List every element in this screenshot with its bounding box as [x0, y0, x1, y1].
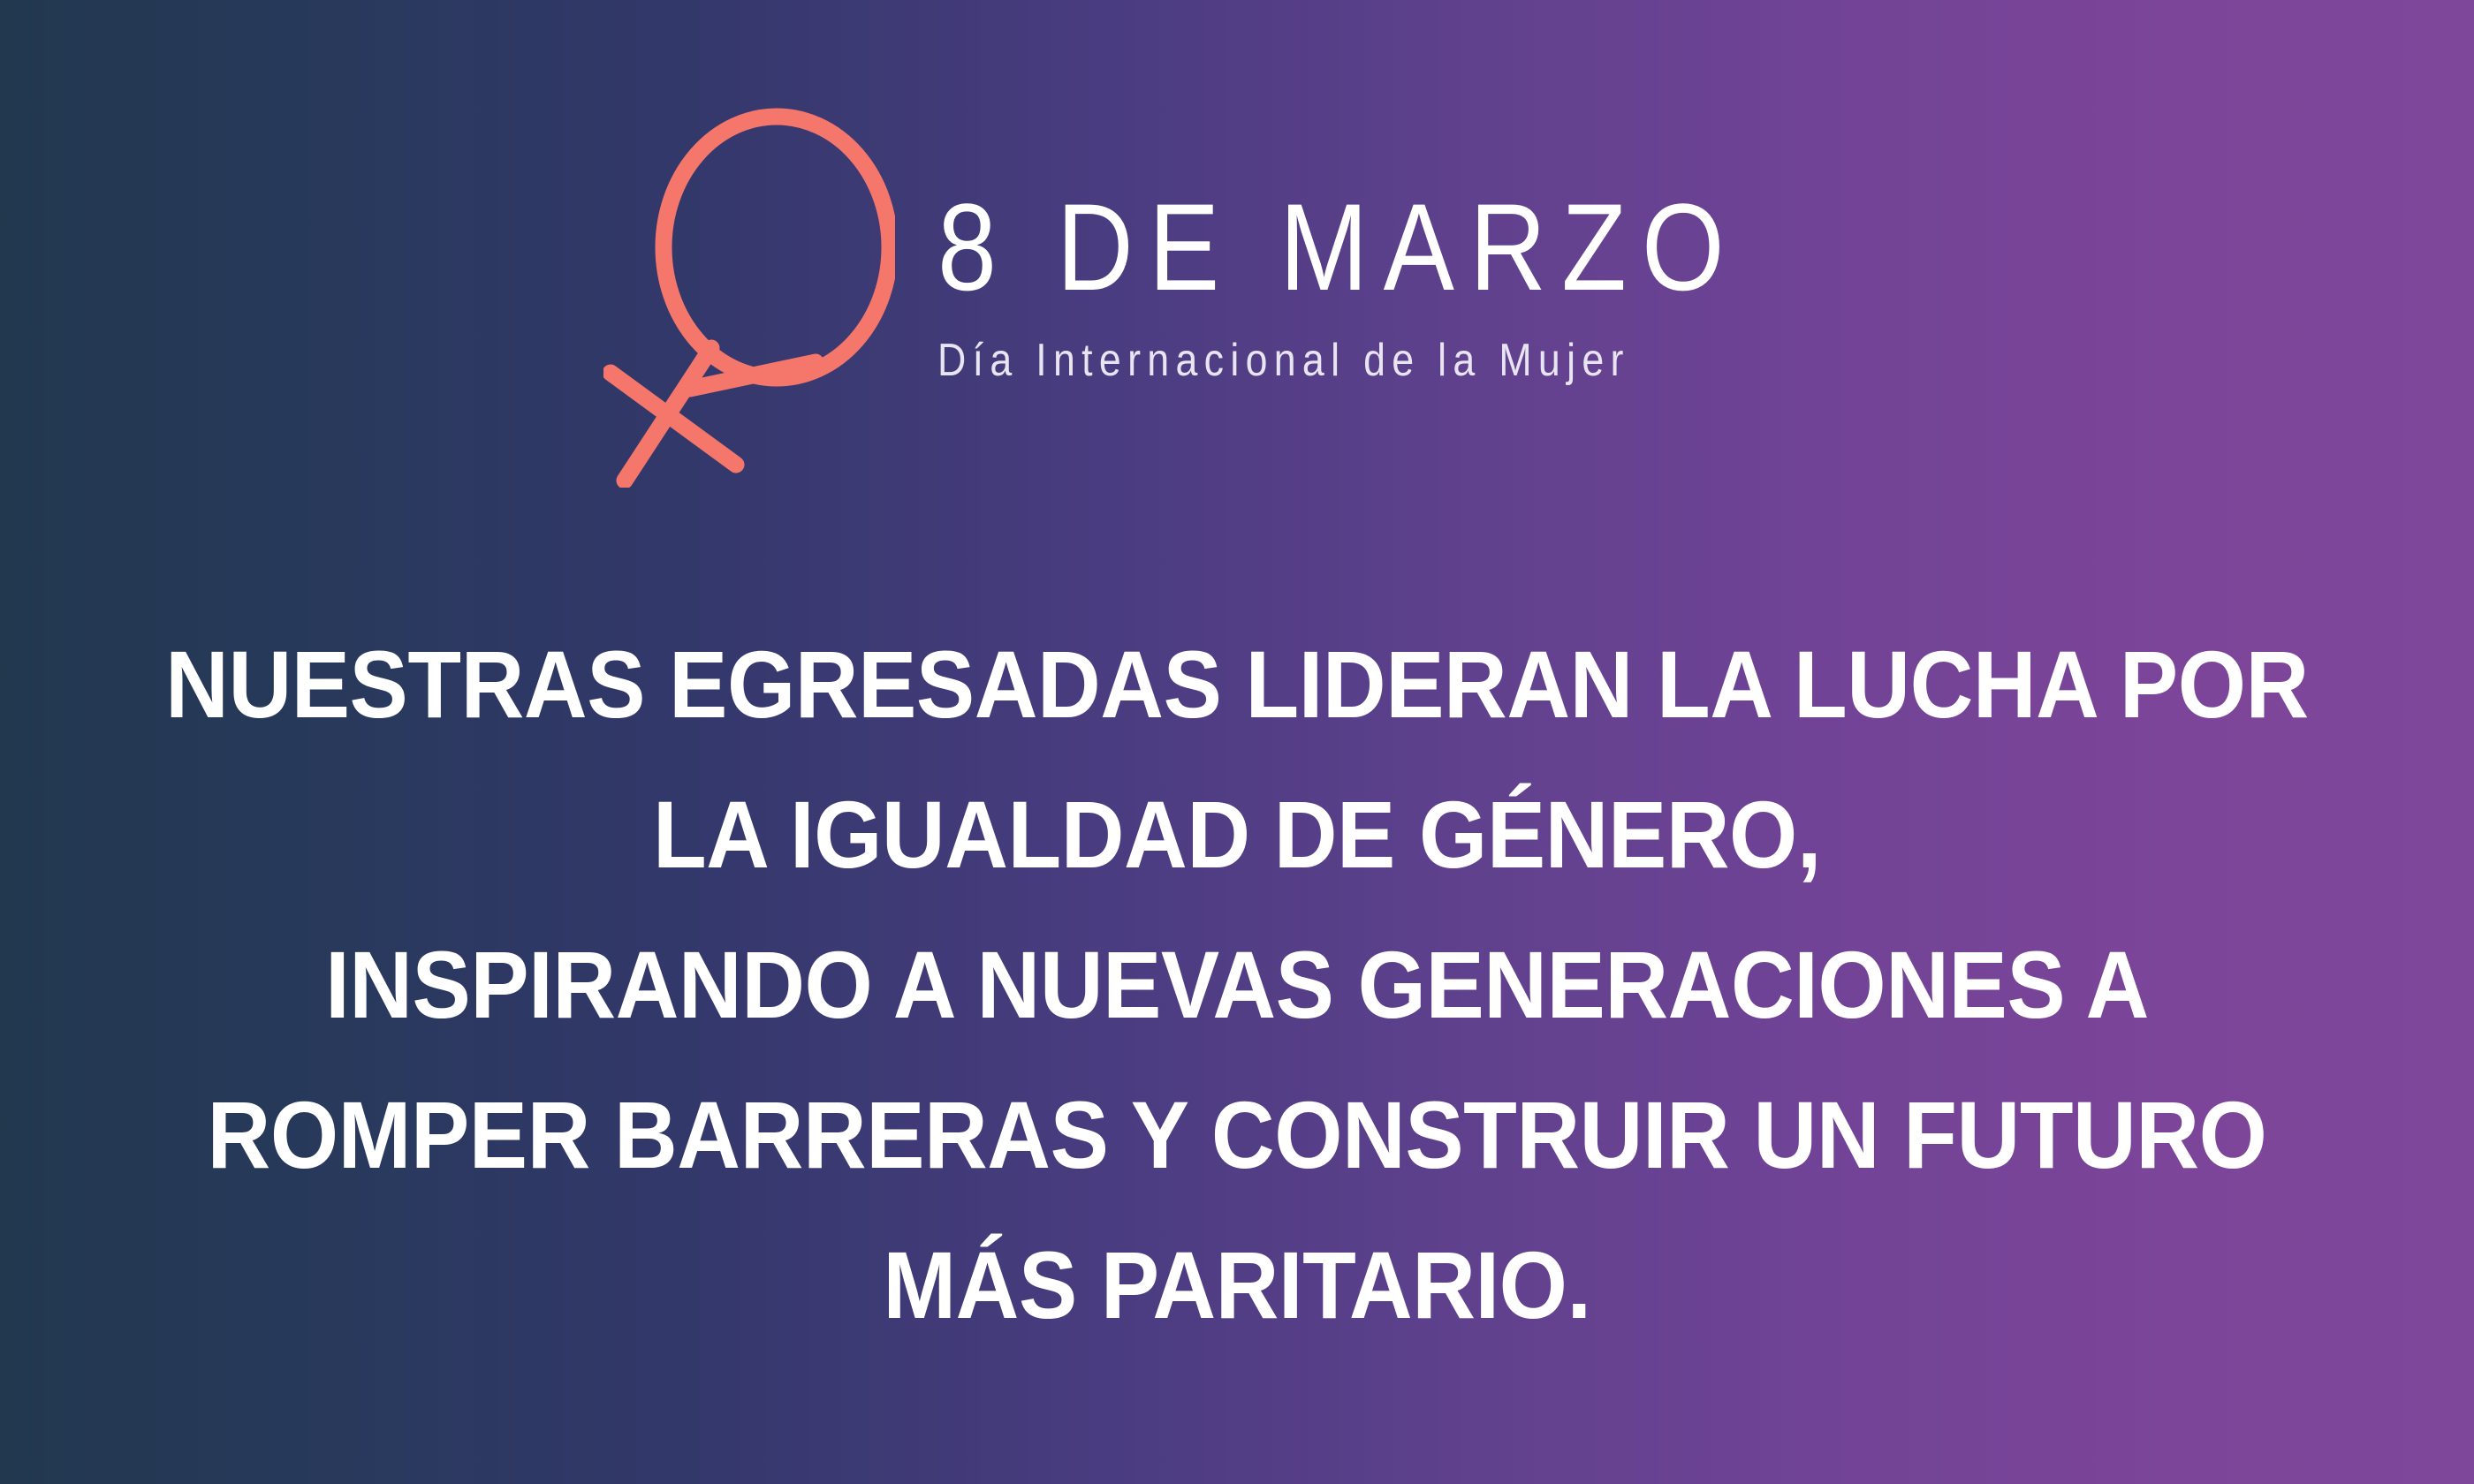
headline-text: INSPIRANDO A NUEVAS GENERACIONES A	[325, 931, 2149, 1038]
headline-block: NUESTRAS EGRESADAS LIDERAN LA LUCHA POR …	[0, 609, 2474, 1360]
headline-line: LA IGUALDAD DE GÉNERO,	[99, 760, 2375, 910]
logo-subtitle: Día Internacional de la Mujer	[937, 337, 1740, 383]
logo-inner: 8 DE MARZO Día Internacional de la Mujer	[603, 108, 1871, 488]
venus-female-symbol-icon	[603, 108, 895, 488]
headline-line: INSPIRANDO A NUEVAS GENERACIONES A	[99, 910, 2375, 1060]
headline-text: NUESTRAS EGRESADAS LIDERAN LA LUCHA POR	[165, 631, 2309, 738]
headline-text: LA	[653, 781, 790, 888]
headline-line: MÁS PARITARIO.	[99, 1210, 2375, 1360]
logo-text-group: 8 DE MARZO Día Internacional de la Mujer	[937, 108, 1871, 383]
logo-title: 8 DE MARZO	[937, 185, 1740, 309]
headline-text: ,	[1797, 781, 1821, 888]
headline-line: NUESTRAS EGRESADAS LIDERAN LA LUCHA POR	[99, 609, 2375, 760]
headline-text: ROMPER BARRERAS Y CONSTRUIR UN FUTURO	[208, 1081, 2267, 1188]
headline-text: MÁS PARITARIO.	[883, 1231, 1590, 1338]
poster-canvas: 8 DE MARZO Día Internacional de la Mujer…	[0, 0, 2474, 1484]
headline-line: ROMPER BARRERAS Y CONSTRUIR UN FUTURO	[99, 1060, 2375, 1210]
logo-block: 8 DE MARZO Día Internacional de la Mujer	[0, 108, 2474, 479]
headline-emphasis: IGUALDAD DE GÉNERO	[790, 781, 1797, 888]
